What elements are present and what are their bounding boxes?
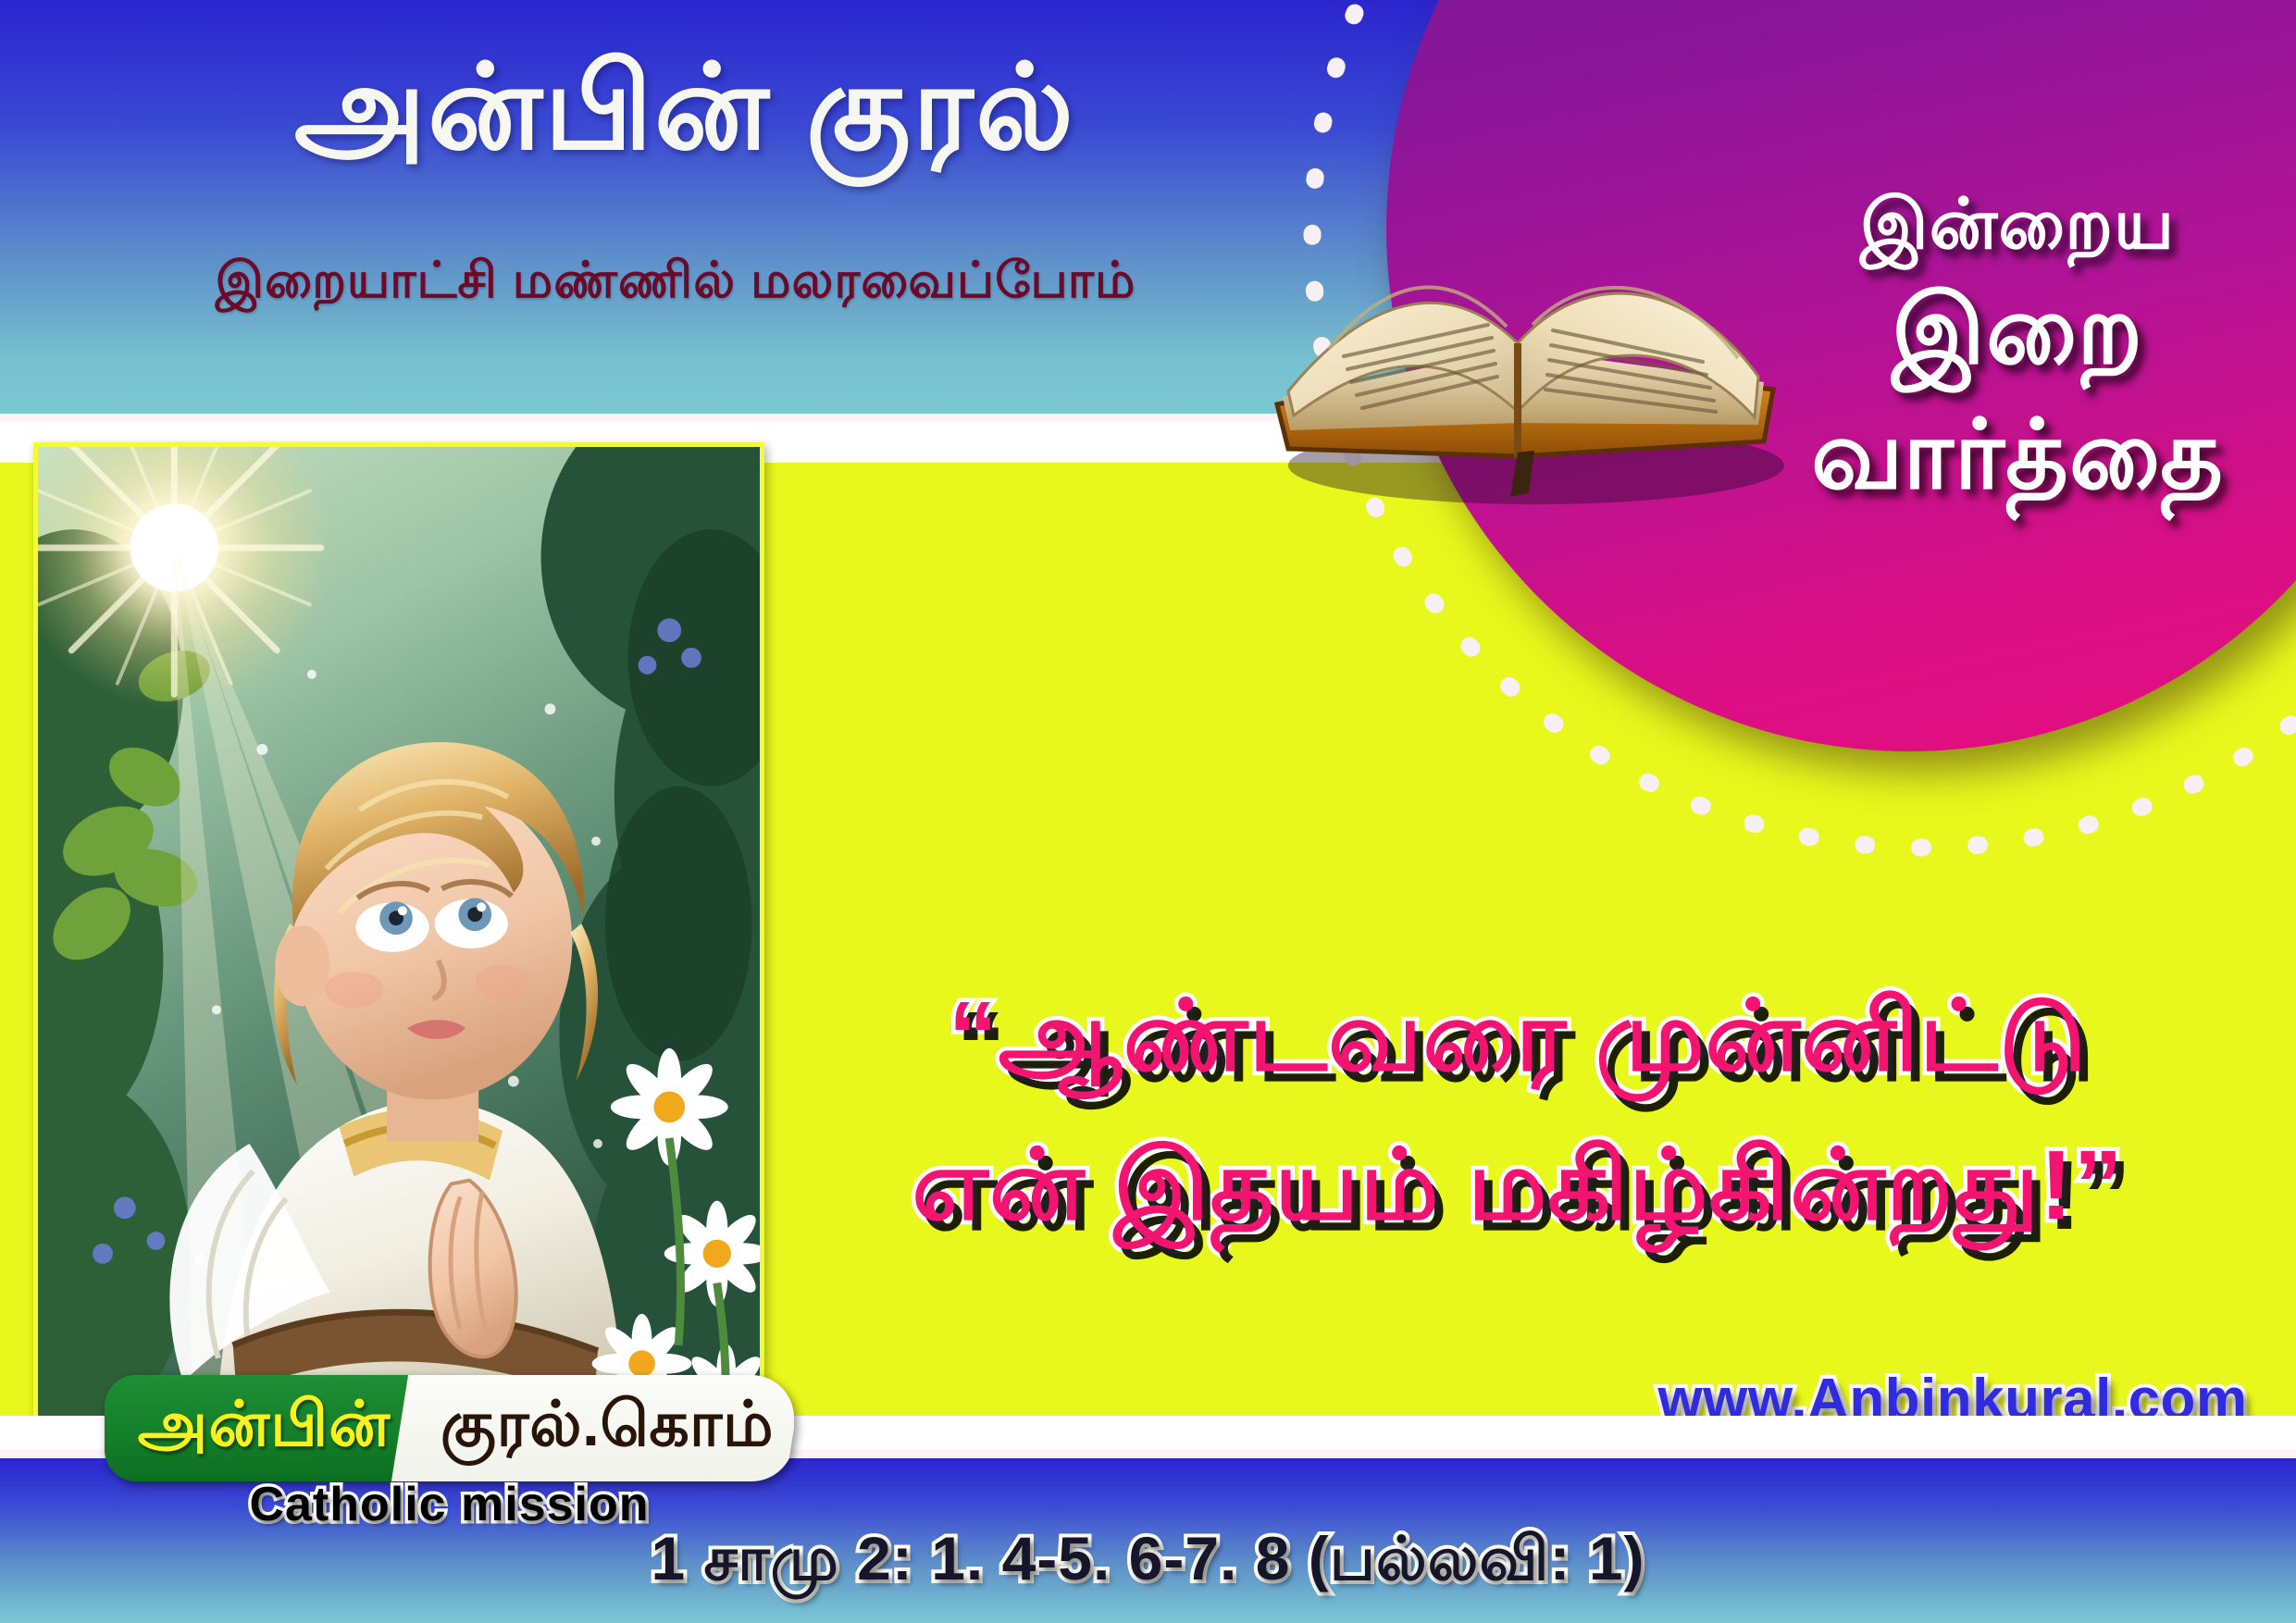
logo-right-panel: குரல்.கொம் (391, 1375, 794, 1481)
logo-left-panel: அன்பின் (105, 1375, 424, 1481)
logo-left-text: அன்பின் (138, 1388, 391, 1469)
quote-line-2: என் இதயம் மகிழ்கின்றது!” (768, 1111, 2267, 1260)
blob-line-1: இன்றைய (1740, 180, 2295, 268)
praying-child-photo (33, 442, 764, 1442)
blob-line-2: இறை (1740, 268, 2295, 393)
page-title: அன்பின் குரல் (167, 44, 1203, 172)
logo-right-text: குரல்.கொம் (441, 1388, 774, 1469)
scripture-quote: “ஆண்டவரை முன்னிட்டு என் இதயம் மகிழ்கின்ற… (768, 962, 2267, 1260)
tagline: இறையாட்சி மண்ணில் மலரவைப்போம் (139, 252, 1212, 316)
poster-canvas: அன்பின் குரல் இறையாட்சி மண்ணில் மலரவைப்ப… (0, 0, 2296, 1623)
scripture-citation: 1 சாமு 2: 1. 4-5. 6-7. 8 (பல்லவி: 1) (0, 1523, 2296, 1603)
blob-line-3: வார்த்தை (1740, 393, 2295, 518)
brand-logo[interactable]: அன்பின் குரல்.கொம் (105, 1375, 794, 1481)
open-bible-icon (1240, 79, 1814, 523)
quote-line-1: “ஆண்டவரை முன்னிட்டு (768, 962, 2267, 1111)
todays-word-heading: இன்றைய இறை வார்த்தை (1740, 180, 2295, 518)
